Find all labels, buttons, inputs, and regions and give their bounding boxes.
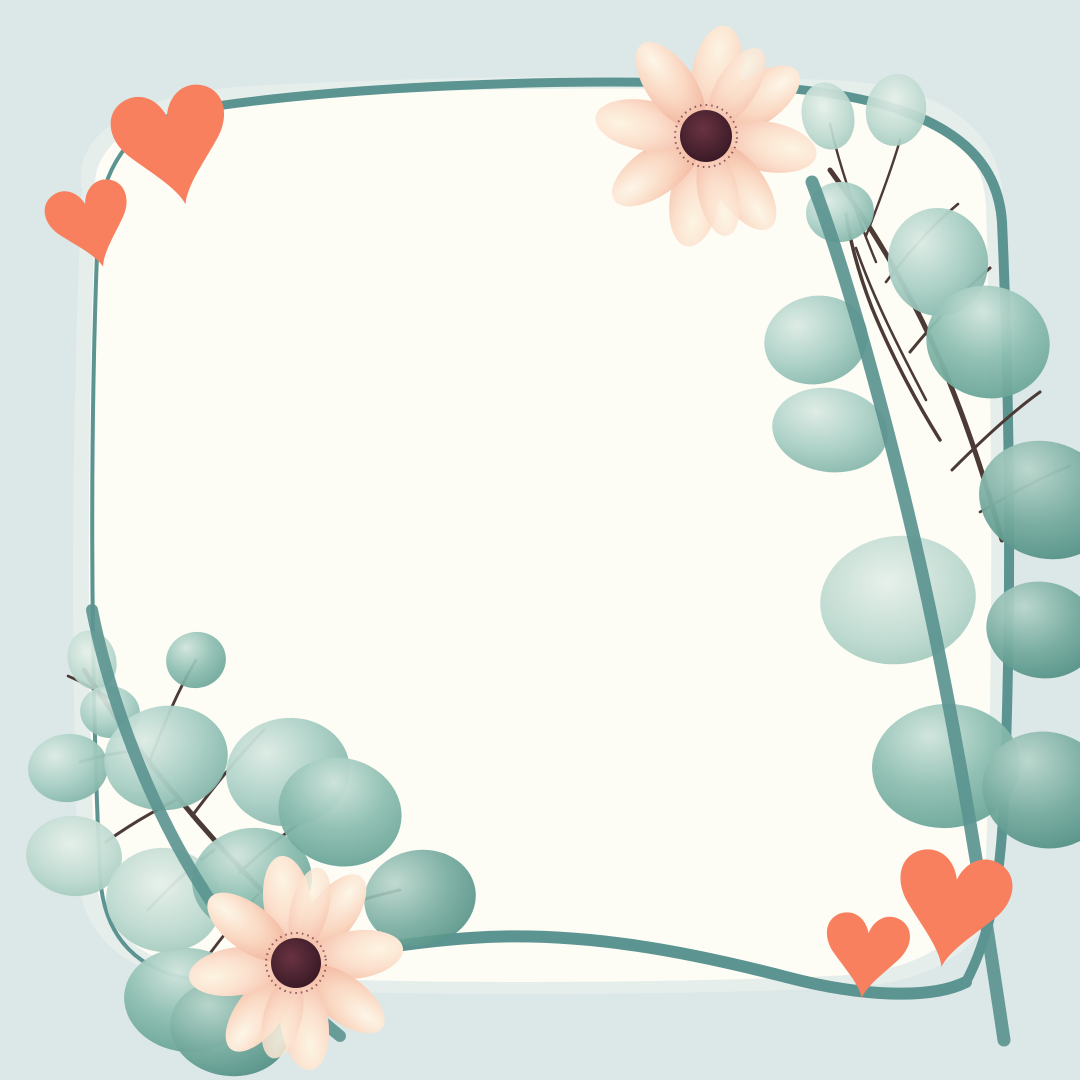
foreground-decorations (0, 0, 1080, 1080)
heart-top-left-small (40, 175, 143, 279)
poster-canvas: Ovan Imate više energije i optimizma neg… (0, 0, 1080, 1080)
heart-bottom-right-large (886, 845, 1017, 976)
flower-bottom-left (174, 841, 418, 1080)
hearts-group (40, 79, 1017, 1002)
flower-top-right (576, 6, 835, 265)
heart-bottom-right-small (820, 910, 912, 1002)
